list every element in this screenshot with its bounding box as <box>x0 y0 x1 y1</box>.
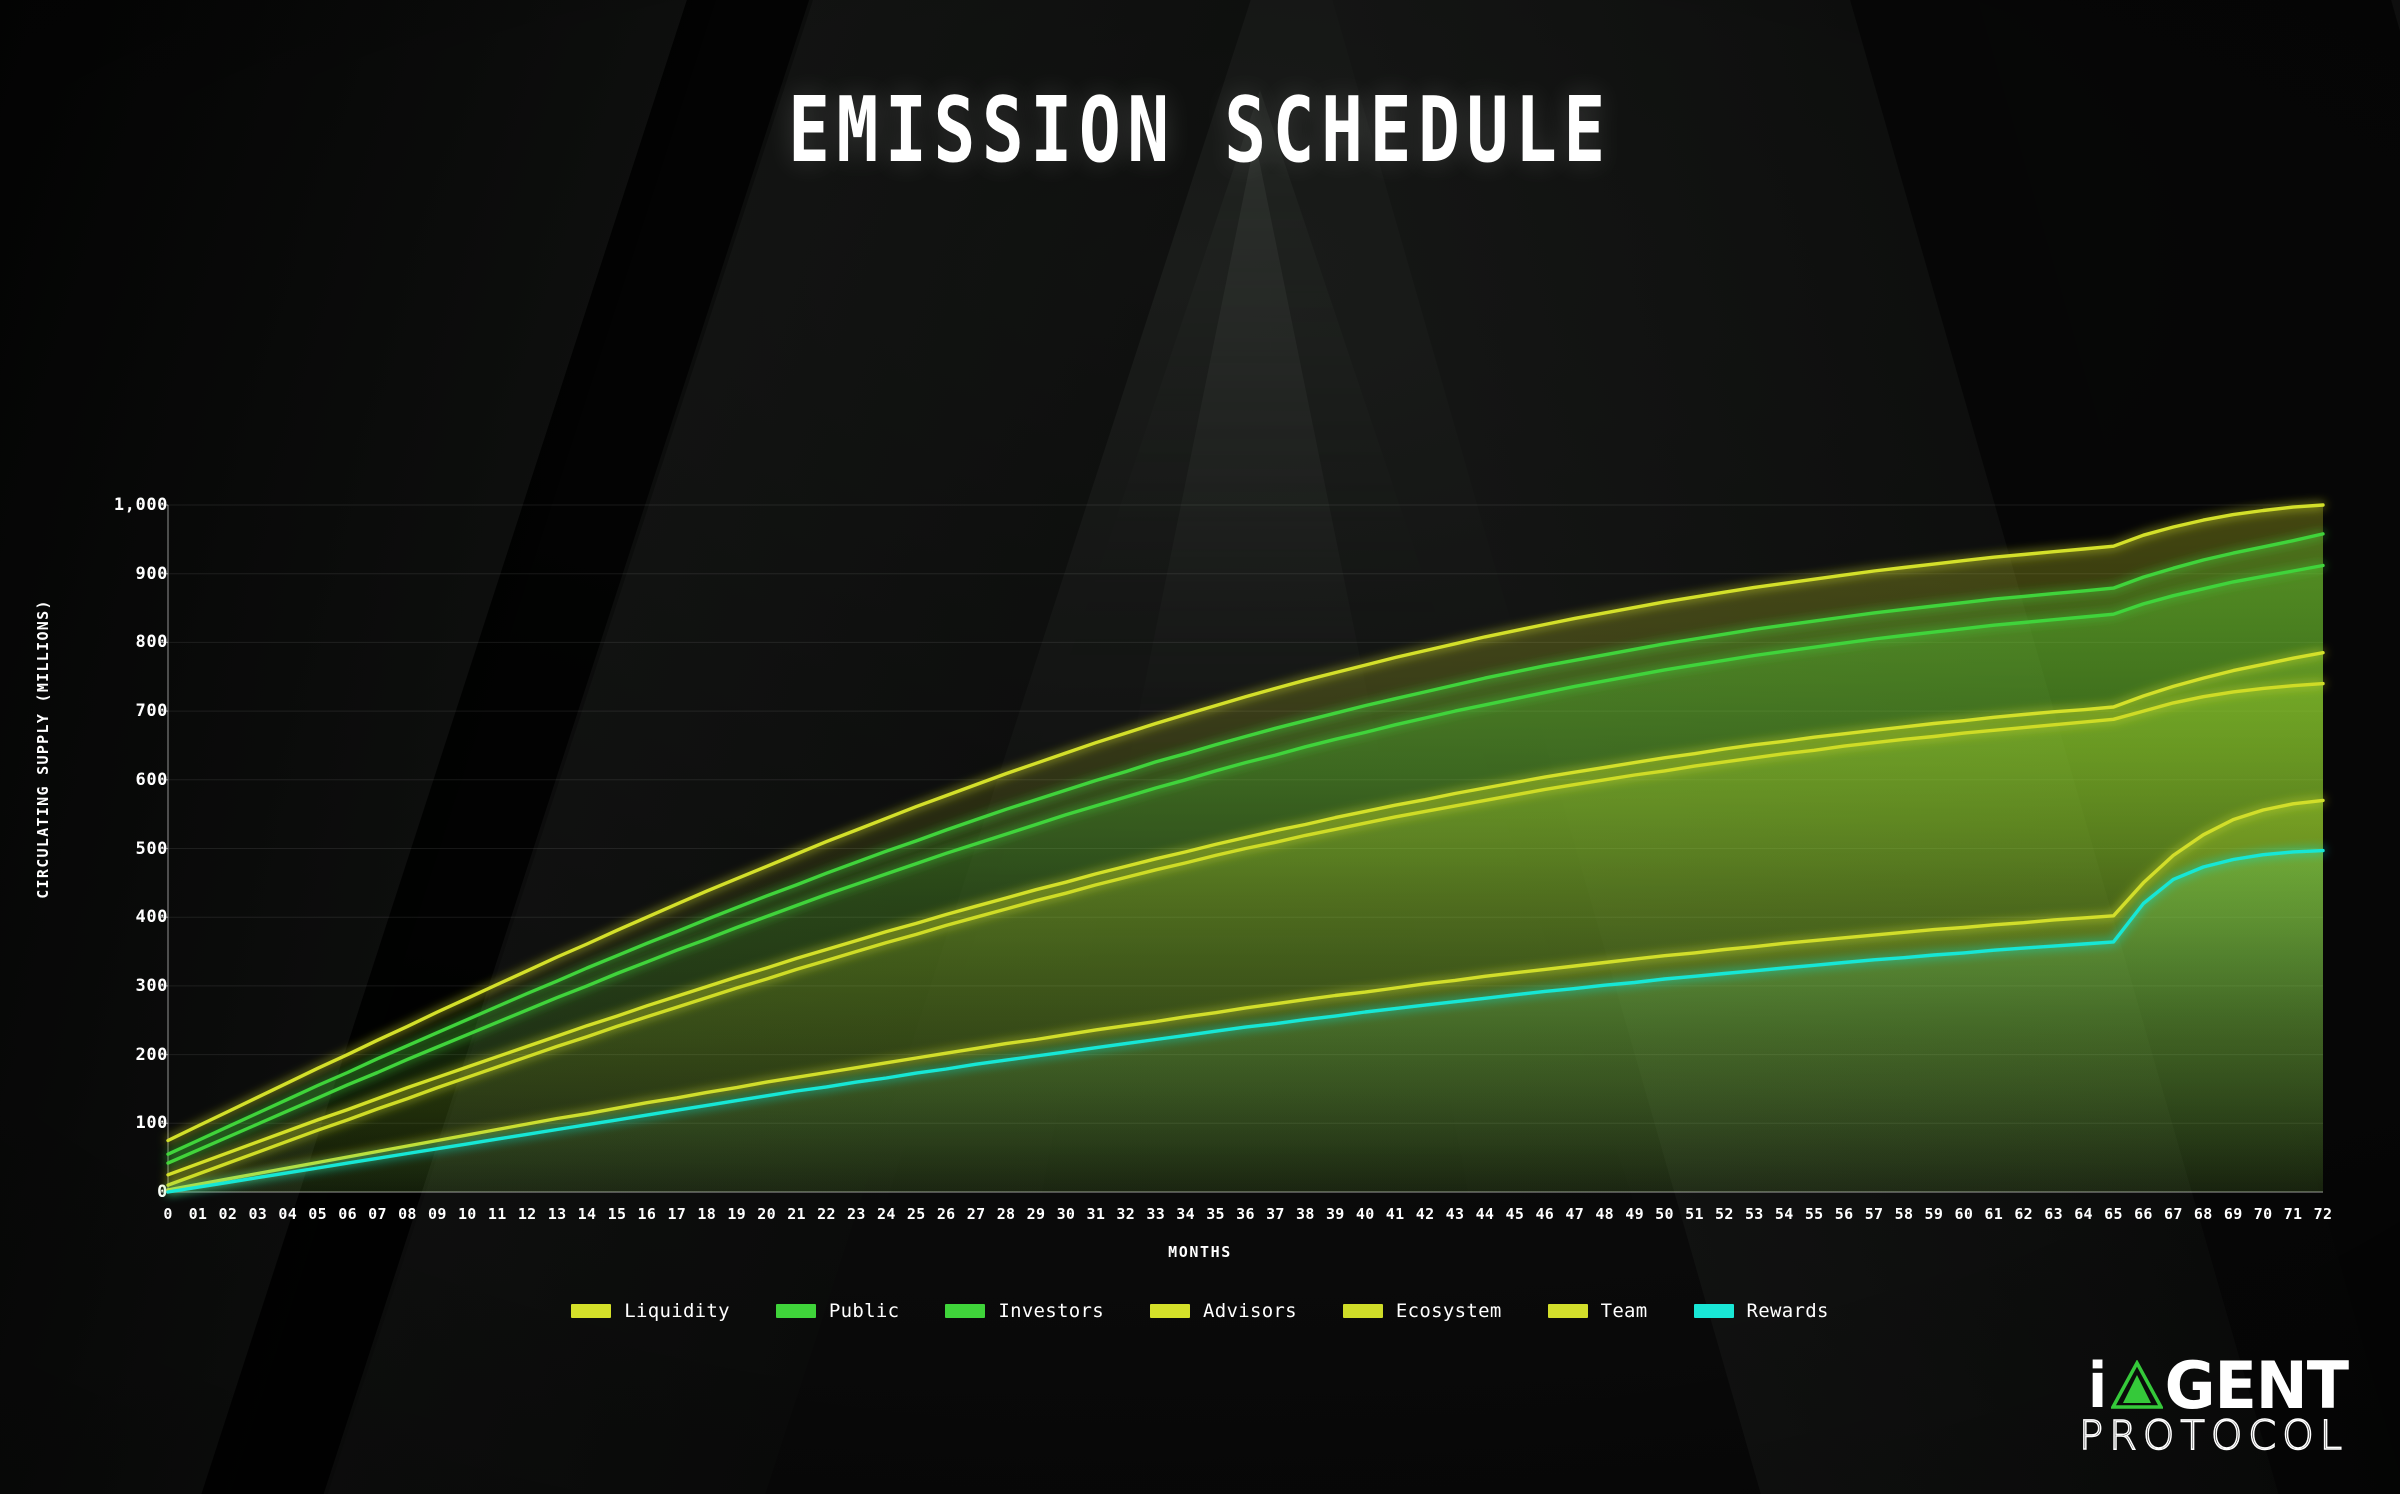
x-tick-label: 10 <box>458 1205 477 1223</box>
x-tick-label: 29 <box>1027 1205 1046 1223</box>
x-tick-label: 07 <box>368 1205 387 1223</box>
x-tick-label: 45 <box>1506 1205 1525 1223</box>
x-tick-label: 04 <box>278 1205 297 1223</box>
x-tick-label: 52 <box>1715 1205 1734 1223</box>
x-tick-label: 68 <box>2194 1205 2213 1223</box>
legend-label: Rewards <box>1747 1300 1829 1322</box>
x-tick-label: 49 <box>1625 1205 1644 1223</box>
x-tick-label: 28 <box>997 1205 1016 1223</box>
x-tick-label: 70 <box>2254 1205 2273 1223</box>
x-tick-label: 22 <box>817 1205 836 1223</box>
legend-item-team[interactable]: Team <box>1548 1300 1648 1322</box>
x-tick-label: 09 <box>428 1205 447 1223</box>
legend-label: Ecosystem <box>1396 1300 1502 1322</box>
legend-item-liquidity[interactable]: Liquidity <box>571 1300 730 1322</box>
x-tick-label: 11 <box>488 1205 507 1223</box>
x-tick-label: 36 <box>1236 1205 1255 1223</box>
logo-i: i <box>2088 1357 2106 1414</box>
x-tick-label: 55 <box>1805 1205 1824 1223</box>
x-tick-label: 56 <box>1835 1205 1854 1223</box>
x-tick-label: 66 <box>2134 1205 2153 1223</box>
x-tick-label: 37 <box>1266 1205 1285 1223</box>
x-tick-label: 69 <box>2224 1205 2243 1223</box>
x-tick-label: 15 <box>608 1205 627 1223</box>
x-tick-label: 17 <box>667 1205 686 1223</box>
x-tick-label: 60 <box>1954 1205 1973 1223</box>
x-tick-label: 20 <box>757 1205 776 1223</box>
x-tick-label: 34 <box>1176 1205 1195 1223</box>
x-tick-label: 35 <box>1206 1205 1225 1223</box>
x-tick-label: 38 <box>1296 1205 1315 1223</box>
x-tick-label: 16 <box>638 1205 657 1223</box>
legend-item-ecosystem[interactable]: Ecosystem <box>1343 1300 1502 1322</box>
x-tick-label: 46 <box>1535 1205 1554 1223</box>
x-tick-label: 03 <box>248 1205 267 1223</box>
legend-swatch-icon <box>1150 1304 1190 1318</box>
x-tick-label: 54 <box>1775 1205 1794 1223</box>
x-tick-label: 48 <box>1595 1205 1614 1223</box>
legend-swatch-icon <box>571 1304 611 1318</box>
x-tick-label: 43 <box>1446 1205 1465 1223</box>
legend-label: Team <box>1601 1300 1648 1322</box>
x-tick-label: 0 <box>163 1205 172 1223</box>
x-tick-label: 65 <box>2104 1205 2123 1223</box>
x-tick-label: 21 <box>787 1205 806 1223</box>
x-tick-label: 72 <box>2314 1205 2333 1223</box>
x-tick-label: 30 <box>1057 1205 1076 1223</box>
x-tick-label: 25 <box>907 1205 926 1223</box>
legend-swatch-icon <box>1548 1304 1588 1318</box>
brand-logo: i GENT PROTOCOL <box>2079 1357 2348 1456</box>
x-tick-label: 39 <box>1326 1205 1345 1223</box>
x-tick-label: 05 <box>308 1205 327 1223</box>
x-tick-label: 01 <box>189 1205 208 1223</box>
x-tick-label: 27 <box>967 1205 986 1223</box>
x-tick-label: 42 <box>1416 1205 1435 1223</box>
legend-item-advisors[interactable]: Advisors <box>1150 1300 1297 1322</box>
x-tick-label: 63 <box>2044 1205 2063 1223</box>
legend-swatch-icon <box>945 1304 985 1318</box>
legend-label: Advisors <box>1203 1300 1297 1322</box>
x-tick-label: 12 <box>518 1205 537 1223</box>
x-tick-label: 47 <box>1565 1205 1584 1223</box>
x-tick-label: 64 <box>2074 1205 2093 1223</box>
emission-schedule-chart: CIRCULATING SUPPLY (MILLIONS) 0100200300… <box>0 0 2400 1494</box>
x-tick-label: 06 <box>338 1205 357 1223</box>
x-tick-label: 32 <box>1116 1205 1135 1223</box>
logo-name: GENT <box>2165 1356 2348 1416</box>
x-tick-label: 24 <box>877 1205 896 1223</box>
x-tick-label: 57 <box>1865 1205 1884 1223</box>
x-tick-label: 13 <box>548 1205 567 1223</box>
plot-area <box>0 0 2400 1494</box>
legend-swatch-icon <box>1694 1304 1734 1318</box>
legend-swatch-icon <box>1343 1304 1383 1318</box>
x-tick-label: 19 <box>727 1205 746 1223</box>
x-tick-label: 71 <box>2284 1205 2303 1223</box>
x-axis-title: MONTHS <box>0 1243 2400 1261</box>
x-tick-label: 58 <box>1895 1205 1914 1223</box>
legend-item-rewards[interactable]: Rewards <box>1694 1300 1829 1322</box>
legend-swatch-icon <box>776 1304 816 1318</box>
x-tick-label: 33 <box>1146 1205 1165 1223</box>
x-tick-label: 61 <box>1984 1205 2003 1223</box>
x-tick-label: 53 <box>1745 1205 1764 1223</box>
x-tick-label: 14 <box>578 1205 597 1223</box>
logo-triangle-a-icon <box>2111 1360 2163 1410</box>
x-tick-label: 41 <box>1386 1205 1405 1223</box>
logo-wordmark: i GENT <box>2079 1357 2348 1414</box>
chart-legend: LiquidityPublicInvestorsAdvisorsEcosyste… <box>0 1300 2400 1322</box>
x-tick-label: 62 <box>2014 1205 2033 1223</box>
x-tick-label: 59 <box>1925 1205 1944 1223</box>
x-tick-label: 23 <box>847 1205 866 1223</box>
legend-label: Investors <box>998 1300 1104 1322</box>
legend-item-public[interactable]: Public <box>776 1300 899 1322</box>
x-tick-label: 67 <box>2164 1205 2183 1223</box>
legend-label: Public <box>829 1300 899 1322</box>
x-tick-label: 08 <box>398 1205 417 1223</box>
legend-label: Liquidity <box>624 1300 730 1322</box>
x-tick-label: 51 <box>1685 1205 1704 1223</box>
x-tick-label: 44 <box>1476 1205 1495 1223</box>
legend-item-investors[interactable]: Investors <box>945 1300 1104 1322</box>
x-tick-label: 26 <box>937 1205 956 1223</box>
x-tick-label: 18 <box>697 1205 716 1223</box>
x-tick-label: 50 <box>1655 1205 1674 1223</box>
x-tick-label: 40 <box>1356 1205 1375 1223</box>
x-tick-label: 31 <box>1087 1205 1106 1223</box>
x-tick-label: 02 <box>219 1205 238 1223</box>
